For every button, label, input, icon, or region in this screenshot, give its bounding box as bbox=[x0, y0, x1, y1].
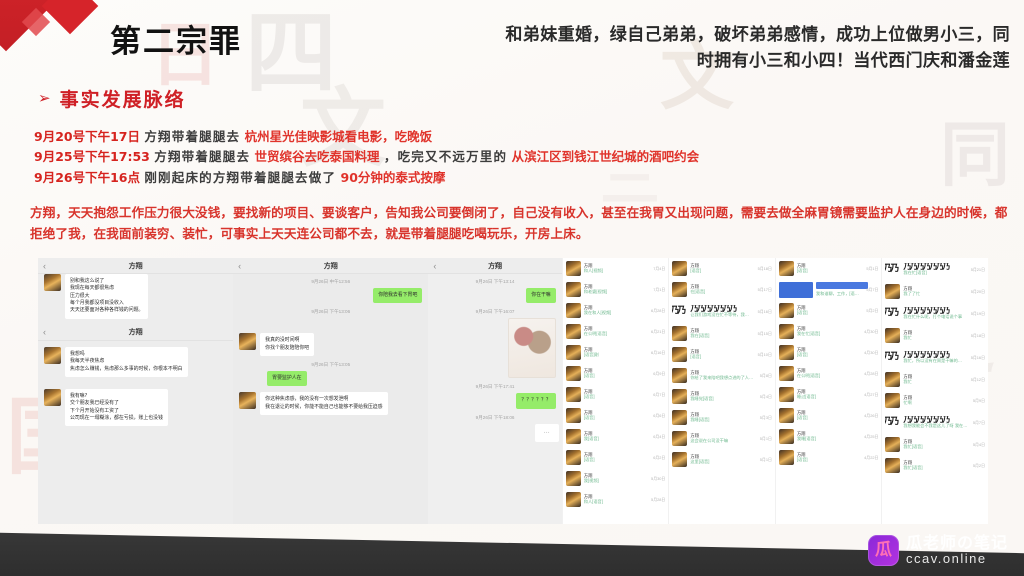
avatar bbox=[566, 282, 581, 297]
chat-list-row[interactable]: 方翔[语音]5月2日 bbox=[776, 300, 882, 321]
chat-list-text: 方翔在公明[语音] bbox=[584, 326, 646, 337]
site-logo[interactable]: 瓜 瓜老师の笔记 ccav.online bbox=[868, 535, 1008, 566]
chat-message: 你陪我去看下胃吧 bbox=[233, 288, 428, 303]
chat-list-text: 方翔[语音] bbox=[797, 263, 861, 274]
timeline-highlight: 90分钟的泰式按摩 bbox=[341, 170, 446, 185]
chat-conversation-panel-3: ‹ 方翔 9月26日 下午13:14 你在干嘛 9月26日 下午16:07 9月… bbox=[428, 258, 561, 524]
chat-list-timestamp: 4月30日 bbox=[862, 329, 878, 335]
chat-list-text: 方翔在[语音] bbox=[690, 284, 752, 295]
chat-list-text: 方翔我睡[语音] bbox=[797, 431, 859, 442]
chat-list-snippet: 我忙[语音] bbox=[903, 444, 967, 449]
chat-list-snippet: [语音] bbox=[584, 415, 648, 420]
headline-text: 和弟妹重婚，绿自己弟弟，破坏弟弟感情，成功上位做男小三，同时拥有小三和小四！当代… bbox=[490, 22, 1010, 75]
chat-list-row[interactable]: 方翔[语音]5月18日 bbox=[669, 258, 775, 279]
chat-list-snippet: 我睡觉[语音] bbox=[690, 396, 754, 401]
chat-list-snippet: 我在忙[语音] bbox=[903, 270, 965, 275]
chat-list-row[interactable]: 方翔在[语音]5月17日 bbox=[669, 279, 775, 300]
avatar bbox=[779, 450, 794, 465]
avatar bbox=[885, 328, 900, 343]
chat-list-row[interactable]: 方翔[语音]4月30日 bbox=[776, 342, 882, 363]
chat-list-snippet: 你给了我来陪吧我想点进的了人在等 bbox=[690, 375, 754, 380]
timeline-date: 9月20号下午17日 bbox=[34, 129, 140, 144]
chat-list-row[interactable]: 我和谁聊，工作，[语音]不能是你现在的吗…5月7日 bbox=[776, 279, 882, 300]
avatar bbox=[672, 389, 687, 404]
chat-list-snippet: 在[语音] bbox=[690, 289, 752, 294]
avatar bbox=[566, 429, 581, 444]
chat-list-snippet: [语音] bbox=[584, 373, 648, 378]
message-timestamp: 9月26日 下午18:06 bbox=[428, 415, 561, 421]
section-subtitle-row: ➢ 事实发展脉络 bbox=[38, 85, 186, 112]
chat-list-timestamp: 7月1日 bbox=[651, 287, 665, 293]
chat-list-row[interactable]: 方翔我忙5月12日 bbox=[882, 369, 988, 390]
chat-list-timestamp: 4月25日 bbox=[862, 434, 878, 440]
avatar bbox=[779, 261, 794, 276]
avatar bbox=[779, 429, 794, 444]
chat-list-text: 方翔我睡觉[语音] bbox=[690, 391, 754, 402]
message-timestamp: 9月26日 下午13:06 bbox=[233, 309, 428, 315]
message-bubble-outgoing: 你在干嘛 bbox=[526, 288, 556, 303]
chat-list-row[interactable]: 方翔[语音]4月22日 bbox=[776, 447, 882, 468]
chat-list-row[interactable]: 方翔[语音]刚6月16日 bbox=[563, 342, 669, 363]
avatar bbox=[885, 393, 900, 408]
chat-list-timestamp: 5月7日 bbox=[971, 420, 985, 426]
chat-message: ··· bbox=[428, 424, 561, 442]
avatar bbox=[885, 458, 900, 473]
avatar bbox=[672, 368, 687, 383]
chat-list-snippet: 这会说在公司没干嘛 bbox=[690, 438, 754, 443]
chat-list-snippet: 我忙 bbox=[903, 335, 965, 340]
chat-list-timestamp: 5月28日 bbox=[649, 497, 665, 503]
chat-list-timestamp: 5月4日 bbox=[971, 442, 985, 448]
message-bubble: 你这种焦虑感，我的没有一次想发泄啊 我在退让的时候，你能不能自己也能够不要给我压… bbox=[260, 392, 387, 415]
avatar bbox=[566, 366, 581, 381]
chat-list-text: 方翔[语音] bbox=[690, 263, 752, 274]
chat-message: 你在干嘛 bbox=[428, 288, 561, 303]
scribbled-name: 乃乃乃乃乃乃乃 bbox=[903, 351, 965, 358]
chat-list-timestamp: 6月16日 bbox=[649, 350, 665, 356]
chat-list-snippet: 我在和人[视频] bbox=[584, 310, 646, 315]
chat-list-text: 方翔和人[视频] bbox=[584, 263, 648, 274]
chat-list-row[interactable]: 方翔我忙[语音]5月2日 bbox=[882, 455, 988, 476]
chat-list-snippet: 我在忙什么呢，打个电话说个事 bbox=[903, 314, 965, 319]
chat-list-snippet: 我在忙[语音] bbox=[797, 331, 859, 336]
chat-list-timestamp: 5月18日 bbox=[969, 333, 985, 339]
chat-list-text: 方翔和人[语音] bbox=[584, 494, 646, 505]
chat-list-snippet: 我和谁聊，工作，[语音]不能是你现在的吗… bbox=[816, 291, 861, 296]
chat-list-text: 乃乃乃乃乃乃乃我在忙什么呢，打个电话说个事 bbox=[903, 307, 965, 320]
message-bubble-outgoing: 你陪我去看下胃吧 bbox=[373, 288, 422, 303]
timeline-highlight: 杭州星光佳映影城看电影，吃晚饭 bbox=[245, 129, 433, 144]
scribbled-name: 乃乃乃乃乃乃乃 bbox=[903, 263, 965, 270]
chat-list-row[interactable]: 方翔在公明[语音]6月21日 bbox=[563, 321, 669, 342]
timeline-item: 9月20号下午17日 方翔带着腿腿去 杭州星光佳映影城看电影，吃晚饭 bbox=[34, 127, 994, 147]
avatar bbox=[566, 261, 581, 276]
back-icon[interactable]: ‹ bbox=[43, 327, 46, 337]
chat-list-text: 方翔[语音] bbox=[797, 347, 859, 358]
timeline-plain: 方翔带着腿腿去 bbox=[154, 149, 250, 164]
chat-message: 别和我这么说了 我现在每天都很焦虑 压力很大 每个月我都没项目没收入 天天还要面… bbox=[38, 274, 233, 319]
chat-list-snippet: [语音] bbox=[584, 394, 648, 399]
chat-list-row[interactable]: 方翔这会说在公司没干嘛5月1日 bbox=[669, 428, 775, 449]
chat-list-snippet: [语音] bbox=[797, 310, 861, 315]
sticker-image bbox=[508, 318, 556, 378]
chat-list-snippet: [语音] bbox=[797, 268, 861, 273]
timeline-date: 9月26号下午16点 bbox=[34, 170, 140, 185]
chat-list-row[interactable]: 方翔你给了我来陪吧我想点进的了人在等5月8日 bbox=[669, 365, 775, 386]
avatar bbox=[239, 333, 256, 350]
chat-message: 我真的没时间啊 你找个朋友陪陪你吧 bbox=[233, 333, 428, 356]
avatar bbox=[779, 303, 794, 318]
chat-list-timestamp: 5月1日 bbox=[758, 436, 772, 442]
chat-list-row[interactable]: 方翔[语音]6月7日 bbox=[563, 384, 669, 405]
chat-list-row[interactable]: 方翔我睡[语音]5月3日 bbox=[669, 407, 775, 428]
chat-list-row[interactable]: 方翔我了了忙5月20日 bbox=[882, 281, 988, 302]
chat-list-timestamp: 7月4日 bbox=[651, 266, 665, 272]
chat-list-timestamp: 4月30日 bbox=[862, 350, 878, 356]
chat-list-snippet: 和老婆[视频] bbox=[584, 289, 648, 294]
chat-list-snippet: 在公明[语音] bbox=[797, 373, 859, 378]
chat-list-snippet: 我忙[语音] bbox=[903, 465, 967, 470]
timeline-plain: 刚刚起床的方翔带着腿腿去做了 bbox=[144, 170, 336, 185]
chat-list-text: 方翔[语音] bbox=[797, 410, 859, 421]
chat-list-snippet: 我忙 bbox=[903, 379, 965, 384]
message-timestamp: 9月26日 下午17:41 bbox=[428, 384, 561, 390]
logo-name: 瓜老师の笔记 bbox=[906, 535, 1008, 552]
timeline-item: 9月25号下午17:53 方翔带着腿腿去 世贸缤谷去吃泰国料理 ，吃完又不远万里… bbox=[34, 147, 994, 167]
timeline-item: 9月26号下午16点 刚刚起床的方翔带着腿腿去做了 90分钟的泰式按摩 bbox=[34, 168, 994, 188]
chat-list-text: 方翔忙啊 bbox=[903, 395, 967, 406]
chat-list-column-4[interactable]: 乃乃乃乃乃乃乃我在忙[语音]5月21日方翔我了了忙5月20日乃乃乃乃乃乃乃我在忙… bbox=[881, 258, 988, 524]
chat-list-text: 方翔这会说在公司没干嘛 bbox=[690, 433, 754, 444]
chat-list-snippet: 我在[语音] bbox=[690, 333, 752, 338]
chat-list-row[interactable]: 方翔我在[语音]5月15日 bbox=[669, 323, 775, 344]
chat-list-timestamp: 6月2日 bbox=[651, 455, 665, 461]
chat-list-timestamp: 5月20日 bbox=[969, 289, 985, 295]
chat-list-row[interactable]: 方翔我睡觉[语音]5月4日 bbox=[669, 386, 775, 407]
avatar bbox=[566, 471, 581, 486]
back-icon[interactable]: ‹ bbox=[43, 261, 46, 271]
avatar bbox=[885, 372, 900, 387]
chat-list-row[interactable]: 方翔和老婆[视频]7月1日 bbox=[563, 279, 669, 300]
message-bubble: 我真的没时间啊 你找个朋友陪陪你吧 bbox=[260, 333, 314, 356]
chat-list-row[interactable]: 方翔[语音]6月2日 bbox=[563, 447, 669, 468]
chat-list-timestamp: 6月7日 bbox=[651, 392, 665, 398]
chat-list-text: 乃乃乃乃乃乃乃我忙，所以没有在周是干嘛的没说一声 bbox=[903, 351, 965, 364]
chat-list-snippet: [语音] bbox=[690, 354, 752, 359]
avatar bbox=[672, 452, 687, 467]
chat-navbar: ‹ 方翔 bbox=[428, 258, 561, 274]
chat-list-snippet: [语音] bbox=[584, 457, 648, 462]
chat-list-row[interactable]: 方翔在公明[语音]4月28日 bbox=[776, 363, 882, 384]
chat-list-snippet: [语音] bbox=[690, 268, 752, 273]
chat-navbar-2: ‹ 方翔 bbox=[38, 325, 233, 341]
section-subtitle: 事实发展脉络 bbox=[60, 85, 186, 112]
chat-list-row[interactable]: 方翔[语音]4月26日 bbox=[776, 405, 882, 426]
chat-list-row[interactable]: 方翔[语音]6月6日 bbox=[563, 405, 669, 426]
chat-contact-name: 方翔 bbox=[324, 261, 338, 271]
chat-list-row[interactable]: 方翔我[视频]5月30日 bbox=[563, 468, 669, 489]
chat-contact-name: 方翔 bbox=[129, 261, 143, 271]
chat-list-timestamp: 5月7日 bbox=[864, 287, 878, 293]
chat-message: 我想吗 我每天半夜焦虑 焦虑怎么赚钱，焦虑那么多事的时候，你根本不明白 bbox=[38, 347, 233, 377]
chat-list-row[interactable]: 方翔忙啊5月9日 bbox=[882, 390, 988, 411]
chat-contact-name: 方翔 bbox=[488, 261, 502, 271]
chat-list-text: 方翔你给了我来陪吧我想点进的了人在等 bbox=[690, 370, 754, 381]
chat-list-text: 方翔我忙 bbox=[903, 374, 965, 385]
avatar bbox=[566, 408, 581, 423]
chat-list-row[interactable]: 方翔[语音]6月9日 bbox=[563, 363, 669, 384]
chat-list-timestamp: 5月9日 bbox=[971, 398, 985, 404]
message-bubble-outgoing: ？？？？？？ bbox=[516, 393, 555, 408]
avatar bbox=[672, 410, 687, 425]
redacted-name-bar bbox=[816, 282, 868, 289]
avatar bbox=[672, 304, 687, 319]
chat-list-timestamp: 5月16日 bbox=[756, 309, 772, 315]
chat-navbar: ‹ 方翔 bbox=[38, 258, 233, 274]
chat-list-row[interactable]: 方翔和人[视频]7月4日 bbox=[563, 258, 669, 279]
chat-list-snippet: 我睡[语音] bbox=[690, 417, 754, 422]
chat-list-timestamp: 4月22日 bbox=[862, 455, 878, 461]
message-timestamp: 9月26日 下午16:07 bbox=[428, 309, 561, 315]
chat-list-row[interactable]: 方翔我在忙[语音]4月30日 bbox=[776, 321, 882, 342]
timeline-list: 9月20号下午17日 方翔带着腿腿去 杭州星光佳映影城看电影，吃晚饭 9月25号… bbox=[34, 127, 994, 188]
redacted-avatar bbox=[779, 282, 813, 298]
page-title: 第二宗罪 bbox=[110, 16, 242, 61]
avatar bbox=[672, 261, 687, 276]
chat-list-snippet: 我[语音] bbox=[584, 436, 648, 441]
chat-navbar: ‹ 方翔 bbox=[233, 258, 428, 274]
chat-list-timestamp: 5月2日 bbox=[864, 308, 878, 314]
avatar bbox=[779, 366, 794, 381]
chat-list-text: 方翔我[视频] bbox=[584, 473, 646, 484]
message-timestamp: 9月26日 下午13:05 bbox=[233, 362, 428, 368]
message-timestamp: 9月26日 下午13:14 bbox=[428, 279, 561, 285]
avatar bbox=[44, 389, 61, 406]
chat-list-row[interactable]: 方翔我睡[语音]4月25日 bbox=[776, 426, 882, 447]
chat-list-snippet: [语音] bbox=[797, 457, 859, 462]
chat-list-snippet: 这里[语音] bbox=[690, 459, 754, 464]
chat-list-text: 方翔我忙 bbox=[903, 330, 965, 341]
chat-list-row[interactable]: 乃乃乃乃乃乃乃我在忙[语音]5月21日 bbox=[882, 258, 988, 281]
chat-list-timestamp: 5月16日 bbox=[969, 355, 985, 361]
avatar bbox=[885, 415, 900, 430]
chat-list-text: 方翔[语音] bbox=[797, 452, 859, 463]
chat-list-timestamp: 5月30日 bbox=[649, 476, 665, 482]
chat-list-row[interactable]: 乃乃乃乃乃乃乃我想我能会不我是这儿了呀 我在睡着本…5月7日 bbox=[882, 411, 988, 434]
chat-list-row[interactable]: 方翔[语音]5月1日 bbox=[776, 258, 882, 279]
scribbled-name: 乃乃乃乃乃乃乃 bbox=[903, 416, 967, 423]
chat-message: 你这种焦虑感，我的没有一次想发泄啊 我在退让的时候，你能不能自己也能够不要给我压… bbox=[233, 392, 428, 415]
message-bubble: 别和我这么说了 我现在每天都很焦虑 压力很大 每个月我都没项目没收入 天天还要面… bbox=[65, 274, 148, 319]
timeline-highlight: 世贸缤谷去吃泰国料理 bbox=[255, 149, 380, 164]
chat-list-snippet: 我睡[语音] bbox=[797, 436, 859, 441]
chat-list-snippet: 我想我能会不我是这儿了呀 我在睡着本… bbox=[903, 423, 967, 428]
avatar bbox=[779, 324, 794, 339]
evidence-screenshot-strip: ‹ 方翔 别和我这么说了 我现在每天都很焦虑 压力很大 每个月我都没项目没收入 … bbox=[38, 258, 988, 524]
back-icon[interactable]: ‹ bbox=[433, 261, 436, 271]
chat-list-text: 方翔我在和人[视频] bbox=[584, 305, 646, 316]
chat-list-snippet: 在公明[语音] bbox=[584, 331, 646, 336]
avatar bbox=[779, 387, 794, 402]
chat-list-timestamp: 4月28日 bbox=[862, 371, 878, 377]
chat-message: 我有嘛? 交个朋友我已经没有了 下个月开始没有工资了 公司现在一塌糊涂，都在亏损… bbox=[38, 389, 233, 426]
watermark-glyph: 四 bbox=[245, 8, 337, 100]
chat-list-timestamp: 6月6日 bbox=[651, 413, 665, 419]
chat-list-column-1[interactable]: 方翔和人[视频]7月4日方翔和老婆[视频]7月1日方翔我在和人[视频]6月28日… bbox=[562, 258, 669, 524]
chat-list-snippet: 我[视频] bbox=[584, 478, 646, 483]
avatar bbox=[44, 347, 61, 364]
chat-list-timestamp: 6月9日 bbox=[651, 371, 665, 377]
chat-list-timestamp: 5月15日 bbox=[756, 331, 772, 337]
chat-list-row[interactable]: 方翔睡过[语音]4月27日 bbox=[776, 384, 882, 405]
chat-list-text: 方翔我在[语音] bbox=[690, 328, 752, 339]
chat-list-text: 乃乃乃乃乃乃乃我想我能会不我是这儿了呀 我在睡着本… bbox=[903, 416, 967, 429]
chat-list-timestamp: 5月8日 bbox=[758, 373, 772, 379]
chat-list-timestamp: 5月18日 bbox=[756, 266, 772, 272]
chat-list-row[interactable]: 方翔我在和人[视频]6月28日 bbox=[563, 300, 669, 321]
chat-conversation-panel-2: ‹ 方翔 9月26日 中午12:56 你陪我去看下胃吧 9月26日 下午13:0… bbox=[233, 258, 428, 524]
chat-list-column-3[interactable]: 方翔[语音]5月1日我和谁聊，工作，[语音]不能是你现在的吗…5月7日方翔[语音… bbox=[775, 258, 882, 524]
chat-list-snippet: 我了了忙 bbox=[903, 291, 965, 296]
chat-message: 胃要监护人在 bbox=[233, 371, 428, 386]
timeline-date: 9月25号下午17:53 bbox=[34, 149, 150, 164]
chat-list-text: 乃乃乃乃乃乃乃让我们游戏没在忙不等待，我打死之后… bbox=[690, 305, 752, 318]
logo-url: ccav.online bbox=[906, 552, 1008, 566]
avatar bbox=[566, 345, 581, 360]
scribbled-name: 乃乃乃乃乃乃乃 bbox=[903, 307, 965, 314]
chat-list-timestamp: 5月4日 bbox=[758, 394, 772, 400]
chat-list-text: 乃乃乃乃乃乃乃我在忙[语音] bbox=[903, 263, 965, 276]
chat-list-timestamp: 5月12日 bbox=[969, 377, 985, 383]
chat-list-row[interactable]: 方翔[语音]5月10日 bbox=[669, 344, 775, 365]
chat-list-text: 方翔我忙[语音] bbox=[903, 460, 967, 471]
avatar bbox=[672, 326, 687, 341]
chat-list-timestamp: 5月3日 bbox=[758, 415, 772, 421]
logo-mark-icon: 瓜 bbox=[868, 535, 899, 566]
avatar bbox=[566, 387, 581, 402]
chat-list-snippet: 忙啊 bbox=[903, 400, 967, 405]
chat-list-timestamp: 4月26日 bbox=[862, 413, 878, 419]
avatar bbox=[885, 306, 900, 321]
avatar bbox=[885, 437, 900, 452]
message-timestamp: 9月26日 中午12:56 bbox=[233, 279, 428, 285]
avatar bbox=[885, 262, 900, 277]
chat-list-text: 方翔这里[语音] bbox=[690, 454, 754, 465]
chat-list-snippet: 和人[视频] bbox=[584, 268, 648, 273]
chat-list-timestamp: 6月28日 bbox=[649, 308, 665, 314]
chat-contact-name: 方翔 bbox=[129, 327, 143, 337]
back-icon[interactable]: ‹ bbox=[238, 261, 241, 271]
avatar bbox=[44, 274, 61, 291]
message-bubble: 我想吗 我每天半夜焦虑 焦虑怎么赚钱，焦虑那么多事的时候，你根本不明白 bbox=[65, 347, 188, 377]
chat-list-text: 方翔[语音] bbox=[584, 389, 648, 400]
chat-list-row[interactable]: 方翔和人[语音]5月28日 bbox=[563, 489, 669, 510]
chat-list-timestamp: 5月1日 bbox=[758, 457, 772, 463]
timeline-highlight-2: 从滨江区到钱江世纪城的酒吧约会 bbox=[512, 149, 700, 164]
chat-list-text: 方翔[语音] bbox=[584, 368, 648, 379]
chat-list-text: 方翔我在忙[语音] bbox=[797, 326, 859, 337]
timeline-plain: 方翔带着腿腿去 bbox=[144, 129, 240, 144]
chat-list-text: 方翔我忙[语音] bbox=[903, 439, 967, 450]
chat-list-snippet: 让我们游戏没在忙不等待，我打死之后… bbox=[690, 312, 752, 317]
chat-list-text: 方翔[语音]刚 bbox=[584, 347, 646, 358]
chat-list-text: 我和谁聊，工作，[语音]不能是你现在的吗… bbox=[816, 282, 861, 296]
chat-list-row[interactable]: 乃乃乃乃乃乃乃我忙，所以没有在周是干嘛的没说一声5月16日 bbox=[882, 346, 988, 369]
message-bubble: 我有嘛? 交个朋友我已经没有了 下个月开始没有工资了 公司现在一塌糊涂，都在亏损… bbox=[65, 389, 168, 426]
red-diamond-decoration bbox=[0, 0, 116, 70]
chat-message: ？？？？？？ bbox=[428, 393, 561, 408]
chat-list-timestamp: 5月10日 bbox=[756, 352, 772, 358]
chat-list-text: 方翔我睡[语音] bbox=[690, 412, 754, 423]
chat-list-row[interactable]: 乃乃乃乃乃乃乃我在忙什么呢，打个电话说个事5月19日 bbox=[882, 302, 988, 325]
chat-list-timestamp: 5月2日 bbox=[971, 463, 985, 469]
avatar bbox=[672, 431, 687, 446]
avatar bbox=[239, 392, 256, 409]
chat-list-timestamp: 5月17日 bbox=[756, 287, 772, 293]
slide-root: 日 四 文 文 三 同 国 之 第二宗罪 和弟妹重婚，绿自己弟弟，破坏弟弟感情，… bbox=[0, 0, 1024, 576]
chat-list-text: 方翔我了了忙 bbox=[903, 286, 965, 297]
chat-list-timestamp: 6月4日 bbox=[651, 434, 665, 440]
avatar bbox=[672, 347, 687, 362]
chat-list-text: 方翔[语音] bbox=[584, 410, 648, 421]
arrow-bullet-icon: ➢ bbox=[38, 91, 51, 106]
chat-list-text: 方翔睡过[语音] bbox=[797, 389, 859, 400]
chat-list-text: 方翔[语音] bbox=[797, 305, 861, 316]
body-paragraph: 方翔，天天抱怨工作压力很大没钱，要找新的项目、要谈客户，告知我公司要倒闭了，自己… bbox=[30, 203, 1010, 245]
logo-mark-glyph: 瓜 bbox=[875, 542, 892, 559]
chat-list-timestamp: 6月21日 bbox=[649, 329, 665, 335]
chat-list-row[interactable]: 方翔我忙5月18日 bbox=[882, 325, 988, 346]
more-dots-icon: ··· bbox=[535, 424, 559, 442]
chat-list-timestamp: 5月19日 bbox=[969, 311, 985, 317]
chat-list-column-2[interactable]: 方翔[语音]5月18日方翔在[语音]5月17日乃乃乃乃乃乃乃让我们游戏没在忙不等… bbox=[668, 258, 775, 524]
avatar bbox=[779, 408, 794, 423]
timeline-tail: ，吃完又不远万里的 bbox=[384, 149, 507, 164]
chat-list-row[interactable]: 乃乃乃乃乃乃乃让我们游戏没在忙不等待，我打死之后…5月16日 bbox=[669, 300, 775, 323]
message-bubble-outgoing: 胃要监护人在 bbox=[267, 371, 306, 386]
chat-list-snippet: [语音] bbox=[797, 415, 859, 420]
chat-list-row[interactable]: 方翔我[语音]6月4日 bbox=[563, 426, 669, 447]
chat-list-timestamp: 5月1日 bbox=[864, 266, 878, 272]
avatar bbox=[566, 324, 581, 339]
chat-list-timestamp: 4月27日 bbox=[862, 392, 878, 398]
avatar bbox=[885, 284, 900, 299]
chat-list-snippet: [语音]刚 bbox=[584, 352, 646, 357]
chat-list-text: 方翔[语音] bbox=[690, 349, 752, 360]
chat-list-row[interactable]: 方翔我忙[语音]5月4日 bbox=[882, 434, 988, 455]
chat-message-sticker bbox=[428, 318, 561, 378]
avatar bbox=[885, 350, 900, 365]
chat-list-text: 方翔在公明[语音] bbox=[797, 368, 859, 379]
scribbled-name: 乃乃乃乃乃乃乃 bbox=[690, 305, 752, 312]
chat-list-text: 方翔和老婆[视频] bbox=[584, 284, 648, 295]
chat-list-snippet: [语音] bbox=[797, 352, 859, 357]
avatar bbox=[566, 492, 581, 507]
avatar bbox=[779, 345, 794, 360]
chat-list-snippet: 和人[语音] bbox=[584, 499, 646, 504]
chat-list-snippet: 睡过[语音] bbox=[797, 394, 859, 399]
avatar bbox=[566, 303, 581, 318]
chat-conversation-panel-1: ‹ 方翔 别和我这么说了 我现在每天都很焦虑 压力很大 每个月我都没项目没收入 … bbox=[38, 258, 233, 524]
chat-list-text: 方翔[语音] bbox=[584, 452, 648, 463]
chat-list-snippet: 我忙，所以没有在周是干嘛的没说一声 bbox=[903, 358, 965, 363]
chat-list-text: 方翔我[语音] bbox=[584, 431, 648, 442]
chat-list-timestamp: 5月21日 bbox=[969, 267, 985, 273]
chat-list-row[interactable]: 方翔这里[语音]5月1日 bbox=[669, 449, 775, 470]
avatar bbox=[566, 450, 581, 465]
avatar bbox=[672, 282, 687, 297]
